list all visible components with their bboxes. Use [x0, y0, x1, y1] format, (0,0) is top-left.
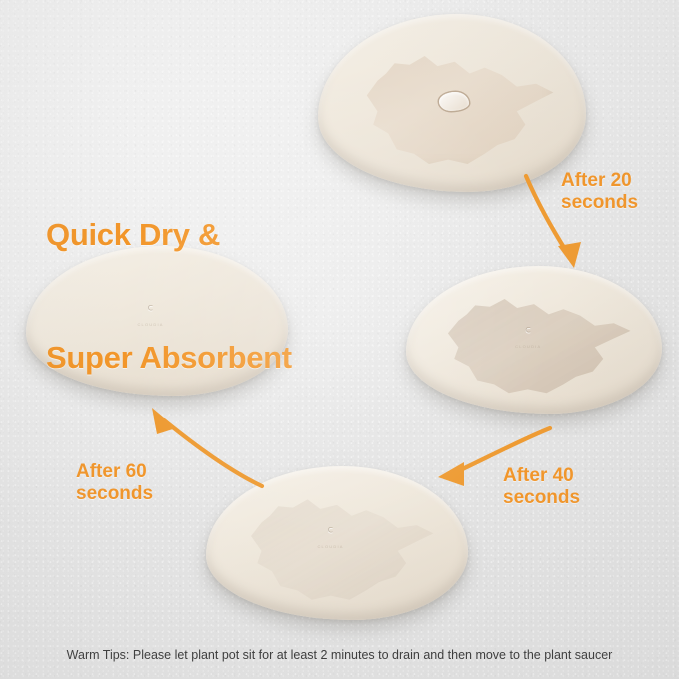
page-title: Quick Dry & Super Absorbent	[46, 133, 292, 460]
step-label-40: After 40 seconds	[503, 465, 580, 510]
water-droplet	[439, 92, 469, 111]
infographic-canvas: ᶜ CLOUDIA ᶜ CLOUDIA ᶜ CLOUDIA	[0, 0, 679, 679]
step-label-20: After 20 seconds	[561, 170, 638, 215]
saucer-step-initial	[318, 14, 586, 192]
headline-line-1: Quick Dry &	[46, 215, 292, 256]
warm-tips-text: Warm Tips: Please let plant pot sit for …	[0, 648, 679, 662]
step-label-60: After 60 seconds	[76, 461, 153, 506]
saucer-step-20: ᶜ CLOUDIA	[406, 266, 662, 414]
headline-line-2: Super Absorbent	[46, 338, 292, 379]
